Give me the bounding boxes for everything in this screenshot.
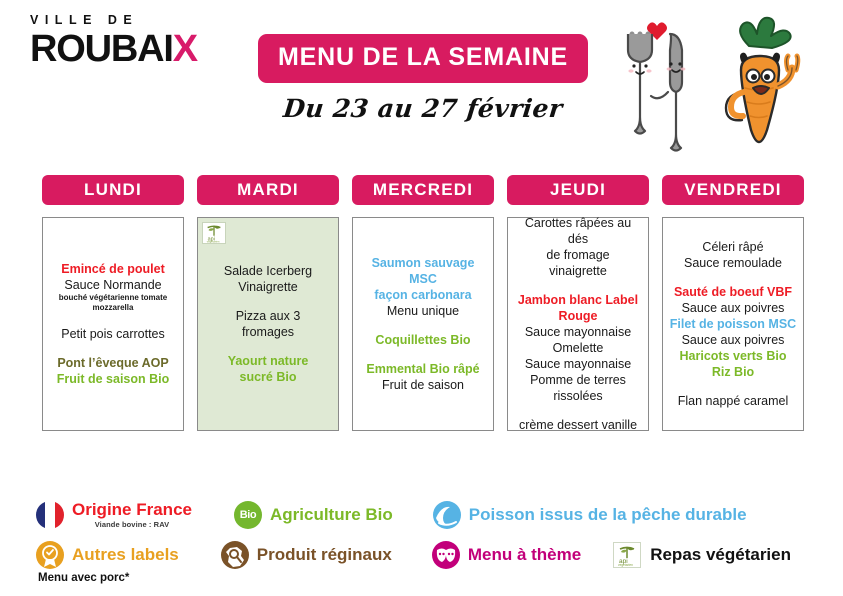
menu-course: Jambon blanc LabelRougeSauce mayonnaiseO… — [514, 292, 642, 404]
mascot-svg — [610, 8, 835, 163]
menu-item: vinaigrette — [514, 263, 642, 279]
bio-icon: Bio — [234, 501, 262, 529]
day-column-mercredi: MERCREDISaumon sauvage MSCfaçon carbonar… — [352, 175, 494, 431]
france-map-icon — [221, 541, 249, 569]
mascot-illustration — [610, 8, 835, 163]
menu-item: Menu unique — [359, 303, 487, 319]
carrot-icon — [726, 18, 798, 142]
legend-text-group: Autres labels — [72, 546, 179, 564]
menu-item: Riz Bio — [669, 364, 797, 380]
day-header[interactable]: LUNDI — [42, 175, 184, 205]
menu-item: Pizza aux 3 — [204, 308, 332, 324]
legend-text-group: Menu à thème — [468, 546, 581, 564]
menu-item: Yaourt nature — [204, 353, 332, 369]
legend-row-2: Autres labelsProduit réginauxMenu à thèm… — [36, 538, 826, 572]
legend-label: Menu à thème — [468, 546, 581, 564]
legend-text-group: Origine FranceViande bovine : RAV — [72, 501, 192, 529]
legend-item[interactable]: Autres labels — [36, 541, 179, 569]
day-header[interactable]: JEUDI — [507, 175, 649, 205]
day-menu-card: Saumon sauvage MSCfaçon carbonaraMenu un… — [352, 217, 494, 431]
menu-item: Céleri râpé — [669, 239, 797, 255]
city-logo: VILLE DE ROUBAIX — [30, 14, 220, 68]
menu-item: Sauce aux poivres — [669, 300, 797, 316]
day-menu-card: Carottes râpées au désde fromagevinaigre… — [507, 217, 649, 431]
theme-masks-icon — [432, 541, 460, 569]
legend-item[interactable]: Menu à thème — [432, 541, 581, 569]
menu-item: Pont l’êveque AOP — [49, 355, 177, 371]
day-header[interactable]: MERCREDI — [352, 175, 494, 205]
legend-label: Repas végétarien — [650, 546, 791, 564]
title-group: MENU DE LA SEMAINE Du 23 au 27 février — [258, 34, 588, 123]
legend-item[interactable]: Poisson issus de la pêche durable — [433, 501, 747, 529]
menu-item: Sauce aux poivres — [669, 332, 797, 348]
legend-row-1: Origine FranceViande bovine : RAVBioAgri… — [36, 498, 826, 532]
menu-item: fromages — [204, 324, 332, 340]
day-menu-card: Céleri râpéSauce remouladeSauté de boeuf… — [662, 217, 804, 431]
menu-course: Sauté de boeuf VBFSauce aux poivresFilet… — [669, 284, 797, 380]
menu-course: crème dessert vanille — [514, 417, 642, 433]
menu-item: sucré Bio — [204, 369, 332, 385]
vegetarian-badge-icon: apivegetarien — [613, 542, 641, 568]
knife-icon — [667, 34, 686, 151]
menu-item: Filet de poisson MSC — [669, 316, 797, 332]
menu-course: Petit pois carrottes — [49, 326, 177, 342]
page-title: MENU DE LA SEMAINE — [258, 34, 588, 83]
french-flag-icon — [36, 501, 64, 529]
menu-item: rissolées — [514, 388, 642, 404]
menu-course: Salade IcerbergVinaigrette — [204, 263, 332, 295]
page-header: VILLE DE ROUBAIX MENU DE LA SEMAINE Du 2… — [0, 0, 843, 165]
legend-text-group: Produit réginaux — [257, 546, 392, 564]
menu-item: façon carbonara — [359, 287, 487, 303]
menu-item: Fruit de saison Bio — [49, 371, 177, 387]
legend: Origine FranceViande bovine : RAVBioAgri… — [36, 498, 826, 572]
menu-item: de fromage — [514, 247, 642, 263]
menu-item: Carottes râpées au dés — [514, 215, 642, 247]
award-rosette-icon — [36, 541, 64, 569]
menu-course: Emincé de pouletSauce Normandebouché vég… — [49, 261, 177, 312]
day-menu-card: Emincé de pouletSauce Normandebouché vég… — [42, 217, 184, 431]
legend-item[interactable]: BioAgriculture Bio — [234, 501, 393, 529]
legend-sublabel: Viande bovine : RAV — [72, 520, 192, 529]
svg-text:vegetarien: vegetarien — [207, 240, 220, 243]
legend-label: Produit réginaux — [257, 546, 392, 564]
menu-item: Sauté de boeuf VBF — [669, 284, 797, 300]
menu-item: Salade Icerberg — [204, 263, 332, 279]
menu-item: crème dessert vanille — [514, 417, 642, 433]
menu-item: Rouge — [514, 308, 642, 324]
menu-course: Céleri râpéSauce remoulade — [669, 239, 797, 271]
menu-course: Carottes râpées au désde fromagevinaigre… — [514, 215, 642, 279]
week-menu-grid: LUNDIEmincé de pouletSauce Normandebouch… — [42, 175, 804, 431]
fish-icon — [433, 501, 461, 529]
menu-course: Yaourt naturesucré Bio — [204, 353, 332, 385]
menu-course: Emmental Bio râpéFruit de saison — [359, 361, 487, 393]
menu-item: Omelette — [514, 340, 642, 356]
day-column-mardi: MARDIapivegetarienSalade IcerbergVinaigr… — [197, 175, 339, 431]
menu-item: bouché végétarienne tomate mozzarella — [49, 293, 177, 312]
date-range: Du 23 au 27 février — [256, 94, 589, 123]
menu-course: Pont l’êveque AOPFruit de saison Bio — [49, 355, 177, 387]
menu-item: Sauce Normande — [49, 277, 177, 293]
menu-item: Vinaigrette — [204, 279, 332, 295]
svg-text:vegetarien: vegetarien — [618, 563, 633, 567]
menu-item: Coquillettes Bio — [359, 332, 487, 348]
menu-item: Flan nappé caramel — [669, 393, 797, 409]
legend-label: Agriculture Bio — [270, 506, 393, 524]
day-header[interactable]: MARDI — [197, 175, 339, 205]
menu-item: Jambon blanc Label — [514, 292, 642, 308]
day-menu-card: apivegetarienSalade IcerbergVinaigretteP… — [197, 217, 339, 431]
logo-line-main: ROUBAIX — [30, 30, 220, 68]
menu-item: Saumon sauvage MSC — [359, 255, 487, 287]
menu-course: Saumon sauvage MSCfaçon carbonaraMenu un… — [359, 255, 487, 319]
fork-icon — [628, 34, 652, 134]
menu-item: Sauce remoulade — [669, 255, 797, 271]
menu-course: Pizza aux 3fromages — [204, 308, 332, 340]
menu-item: Sauce mayonnaise — [514, 324, 642, 340]
menu-item: Emincé de poulet — [49, 261, 177, 277]
legend-label: Poisson issus de la pêche durable — [469, 506, 747, 524]
menu-item: Sauce mayonnaise — [514, 356, 642, 372]
menu-item: Fruit de saison — [359, 377, 487, 393]
menu-item: Petit pois carrottes — [49, 326, 177, 342]
menu-course: Flan nappé caramel — [669, 393, 797, 409]
day-column-vendredi: VENDREDICéleri râpéSauce remouladeSauté … — [662, 175, 804, 431]
legend-item[interactable]: Origine FranceViande bovine : RAV — [36, 501, 192, 529]
footnote: Menu avec porc* — [38, 572, 129, 584]
legend-item[interactable]: Produit réginaux — [221, 541, 392, 569]
day-column-lundi: LUNDIEmincé de pouletSauce Normandebouch… — [42, 175, 184, 431]
logo-name-text: ROUBAI — [30, 28, 173, 70]
legend-text-group: Repas végétarien — [650, 546, 791, 564]
legend-label: Origine France — [72, 501, 192, 519]
legend-text-group: Poisson issus de la pêche durable — [469, 506, 747, 524]
vegetarian-badge-icon: apivegetarien — [202, 222, 226, 244]
day-column-jeudi: JEUDICarottes râpées au désde fromagevin… — [507, 175, 649, 431]
menu-item: Pomme de terres — [514, 372, 642, 388]
menu-course: Coquillettes Bio — [359, 332, 487, 348]
menu-item: Emmental Bio râpé — [359, 361, 487, 377]
legend-text-group: Agriculture Bio — [270, 506, 393, 524]
legend-item[interactable]: apivegetarienRepas végétarien — [613, 542, 791, 568]
logo-line-top: VILLE DE — [30, 14, 220, 27]
legend-label: Autres labels — [72, 546, 179, 564]
logo-accent-x: X — [173, 28, 197, 70]
day-header[interactable]: VENDREDI — [662, 175, 804, 205]
menu-item: Haricots verts Bio — [669, 348, 797, 364]
